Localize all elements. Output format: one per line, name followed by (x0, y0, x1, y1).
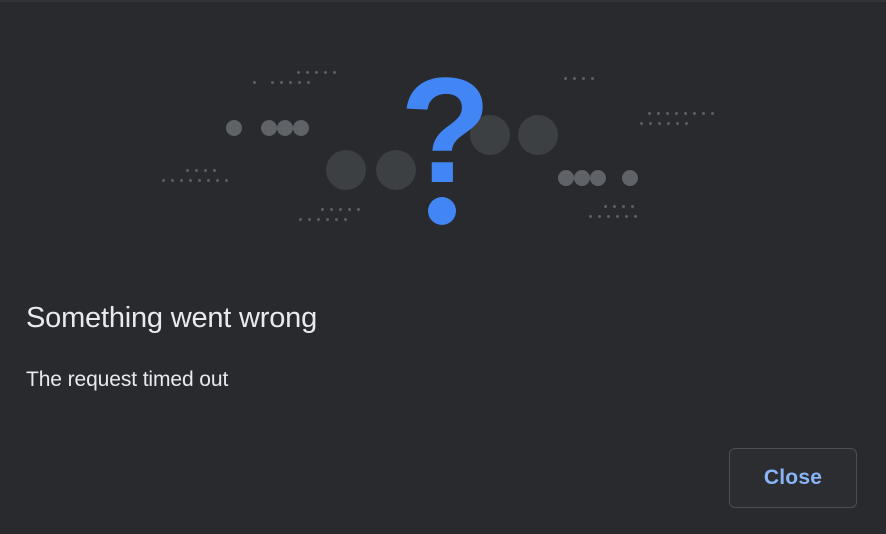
decorative-small-circle (590, 170, 606, 186)
decorative-dot-row (648, 112, 720, 115)
error-message-block: Something went wrong The request timed o… (26, 298, 726, 394)
decorative-small-circle (261, 120, 277, 136)
close-button[interactable]: Close (729, 448, 857, 508)
decorative-small-circle (622, 170, 638, 186)
error-dialog: ? Something went wrong The request timed… (0, 0, 886, 534)
decorative-large-circle (326, 150, 366, 190)
decorative-dot-row (297, 71, 342, 74)
decorative-dot-row (186, 169, 222, 172)
decorative-dot-row (564, 77, 600, 80)
decorative-dot-row (604, 205, 640, 208)
question-mark-icon: ? (398, 68, 493, 193)
decorative-small-circle (277, 120, 293, 136)
decorative-small-circle (574, 170, 590, 186)
error-subtitle: The request timed out (26, 338, 726, 394)
decorative-dot-row (271, 81, 316, 84)
decorative-dot-row (589, 215, 643, 218)
decorative-dot-row (253, 81, 262, 84)
error-title: Something went wrong (26, 298, 726, 338)
decorative-dot-row (162, 179, 234, 182)
decorative-dot-row (321, 208, 366, 211)
decorative-small-circle (293, 120, 309, 136)
decorative-small-circle (226, 120, 242, 136)
decorative-dot-row (299, 218, 353, 221)
decorative-large-circle (518, 115, 558, 155)
dialog-footer: Close (0, 448, 886, 508)
decorative-dot-row (640, 122, 694, 125)
error-illustration: ? (0, 2, 886, 267)
decorative-small-circle (558, 170, 574, 186)
